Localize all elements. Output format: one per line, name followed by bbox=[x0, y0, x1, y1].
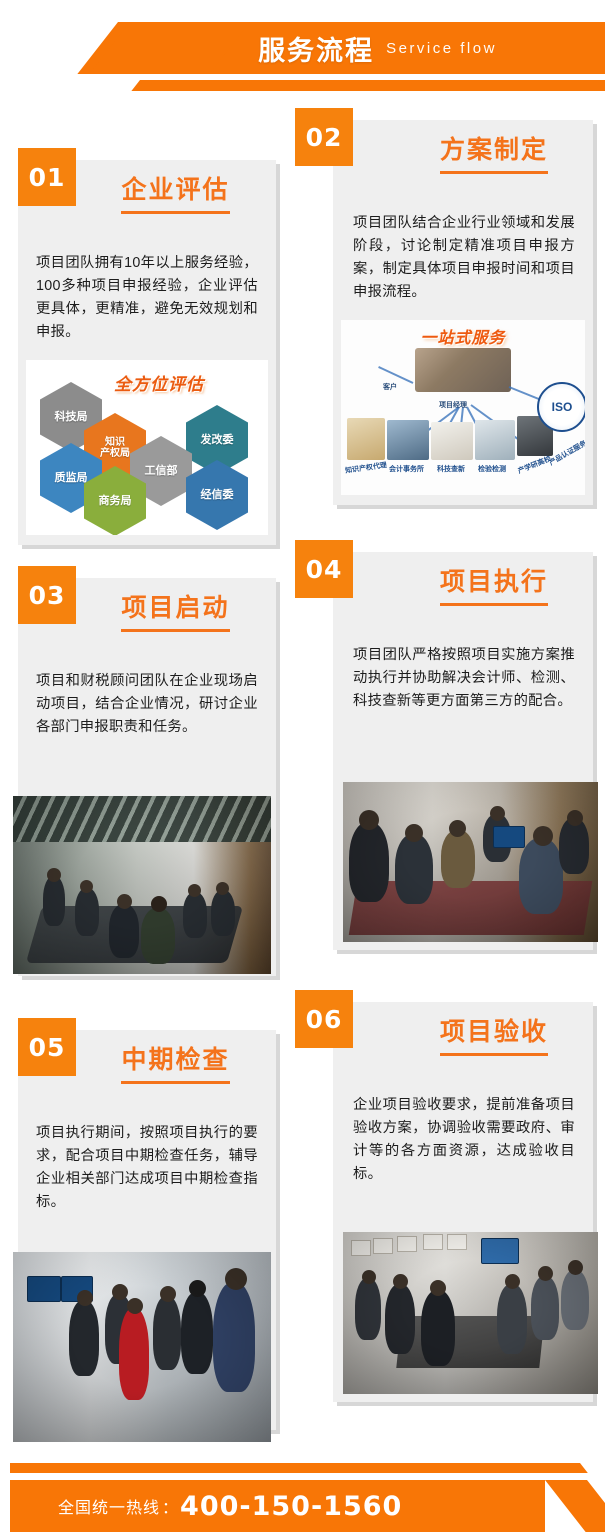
step-card-03: 项目启动 项目和财税顾问团队在企业现场启动项目，结合企业情况，研讨企业各部门申报… bbox=[18, 578, 276, 976]
card-body-05: 项目执行期间，按照项目执行的要求，配合项目中期检查任务，辅导企业相关部门达成项目… bbox=[36, 1122, 258, 1215]
step-card-01: 企业评估 项目团队拥有10年以上服务经验，100多种项目申报经验，企业评估更具体… bbox=[18, 160, 276, 545]
one-stop-label-ip: 知识产权代理 bbox=[345, 460, 388, 476]
one-stop-title: 一站式服务 bbox=[341, 324, 585, 348]
step-badge-02: 02 bbox=[295, 108, 353, 166]
header-stripe bbox=[152, 80, 605, 91]
card-title-wrap-01: 企业评估 bbox=[88, 170, 263, 214]
card-title-05: 中期检查 bbox=[121, 1040, 229, 1084]
card-body-02: 项目团队结合企业行业领域和发展阶段，讨论制定精准项目申报方案，制定具体项目申报时… bbox=[353, 212, 575, 305]
photo-vignette bbox=[343, 782, 598, 942]
photo-vignette bbox=[13, 1252, 271, 1442]
iso-seal-icon: ISO bbox=[537, 382, 585, 432]
one-stop-label-novelty: 科技查新 bbox=[437, 464, 465, 474]
step-badge-04: 04 bbox=[295, 540, 353, 598]
hotline-number[interactable]: 400-150-1560 bbox=[180, 1491, 402, 1522]
card-body-03: 项目和财税顾问团队在企业现场启动项目，结合企业情况，研讨企业各部门申报职责和任务… bbox=[36, 670, 258, 739]
card-title-wrap-02: 方案制定 bbox=[405, 130, 583, 174]
conference-room-photo bbox=[13, 796, 271, 974]
one-stop-label-university: 产学研高校 bbox=[516, 454, 552, 476]
card-title-06: 项目验收 bbox=[440, 1012, 548, 1056]
hex-node-jingxinwei: 经信委 bbox=[186, 460, 248, 530]
step-card-06: 项目验收 企业项目验收要求，提前准备项目验收方案，协调验收需要政府、审计等的各方… bbox=[333, 1002, 593, 1402]
tile-accounting bbox=[387, 420, 429, 460]
header-stripe-skew bbox=[143, 80, 212, 91]
footer-stripe bbox=[10, 1463, 550, 1473]
one-stop-service-image: 一站式服务 客户 项目经理 ISO 知识产权代理 会计事务所 科技查新 检验检测… bbox=[341, 320, 585, 495]
step-badge-01: 01 bbox=[18, 148, 76, 206]
card-title-wrap-06: 项目验收 bbox=[405, 1012, 583, 1056]
photo-vignette bbox=[343, 1232, 598, 1394]
card-body-06: 企业项目验收要求，提前准备项目验收方案，协调验收需要政府、审计等的各方面资源，达… bbox=[353, 1094, 575, 1187]
page-header: 服务流程 Service flow bbox=[0, 0, 605, 110]
footer-stripe-end bbox=[540, 1463, 588, 1473]
step-card-04: 项目执行 项目团队严格按照项目实施方案推动执行并协助解决会计师、检测、科技查新等… bbox=[333, 552, 593, 950]
page-title: 服务流程 bbox=[258, 29, 374, 68]
page-subtitle: Service flow bbox=[386, 40, 497, 57]
hotline-label: 全国统一热线 bbox=[58, 1494, 160, 1518]
tile-testing bbox=[475, 420, 515, 460]
photo-vignette bbox=[13, 796, 271, 974]
step-card-02: 方案制定 项目团队结合企业行业领域和发展阶段，讨论制定精准项目申报方案，制定具体… bbox=[333, 120, 593, 505]
one-stop-label-testing: 检验检测 bbox=[478, 464, 506, 474]
card-title-03: 项目启动 bbox=[121, 588, 229, 632]
card-title-wrap-03: 项目启动 bbox=[88, 588, 263, 632]
card-title-02: 方案制定 bbox=[440, 130, 548, 174]
site-visit-photo bbox=[13, 1252, 271, 1442]
hex-diagram: 全方位评估 科技局 知识 产权局 发改委 质监局 工信部 经信委 商务局 bbox=[26, 360, 268, 535]
hotline-group: 全国统一热线 ： 400-150-1560 bbox=[10, 1480, 545, 1532]
page-footer: 全国统一热线 ： 400-150-1560 bbox=[0, 1418, 605, 1538]
card-title-wrap-04: 项目执行 bbox=[405, 562, 583, 606]
one-stop-team-photo bbox=[415, 348, 511, 392]
step-badge-06: 06 bbox=[295, 990, 353, 1048]
one-stop-node-customer: 客户 bbox=[383, 382, 397, 392]
header-title-group: 服务流程 Service flow bbox=[150, 22, 605, 74]
card-body-04: 项目团队严格按照项目实施方案推动执行并协助解决会计师、检测、科技查新等更方面第三… bbox=[353, 644, 575, 713]
footer-bar-end bbox=[545, 1480, 605, 1532]
step-badge-05: 05 bbox=[18, 1018, 76, 1076]
acceptance-meeting-photo bbox=[343, 1232, 598, 1394]
hex-diagram-title: 全方位评估 bbox=[114, 370, 204, 395]
one-stop-node-manager: 项目经理 bbox=[439, 400, 467, 410]
hotline-colon: ： bbox=[160, 1494, 180, 1518]
tile-novelty bbox=[431, 422, 473, 460]
tile-ip bbox=[347, 418, 385, 460]
working-meeting-photo bbox=[343, 782, 598, 942]
card-title-01: 企业评估 bbox=[121, 170, 229, 214]
card-body-01: 项目团队拥有10年以上服务经验，100多种项目申报经验，企业评估更具体，更精准，… bbox=[36, 252, 258, 345]
card-title-wrap-05: 中期检查 bbox=[88, 1040, 263, 1084]
one-stop-label-accounting: 会计事务所 bbox=[389, 464, 424, 474]
infographic-page: 服务流程 Service flow 企业评估 项目团队拥有10年以上服务经验，1… bbox=[0, 0, 605, 1538]
card-title-04: 项目执行 bbox=[440, 562, 548, 606]
step-card-05: 中期检查 项目执行期间，按照项目执行的要求，配合项目中期检查任务，辅导企业相关部… bbox=[18, 1030, 276, 1430]
step-badge-03: 03 bbox=[18, 566, 76, 624]
